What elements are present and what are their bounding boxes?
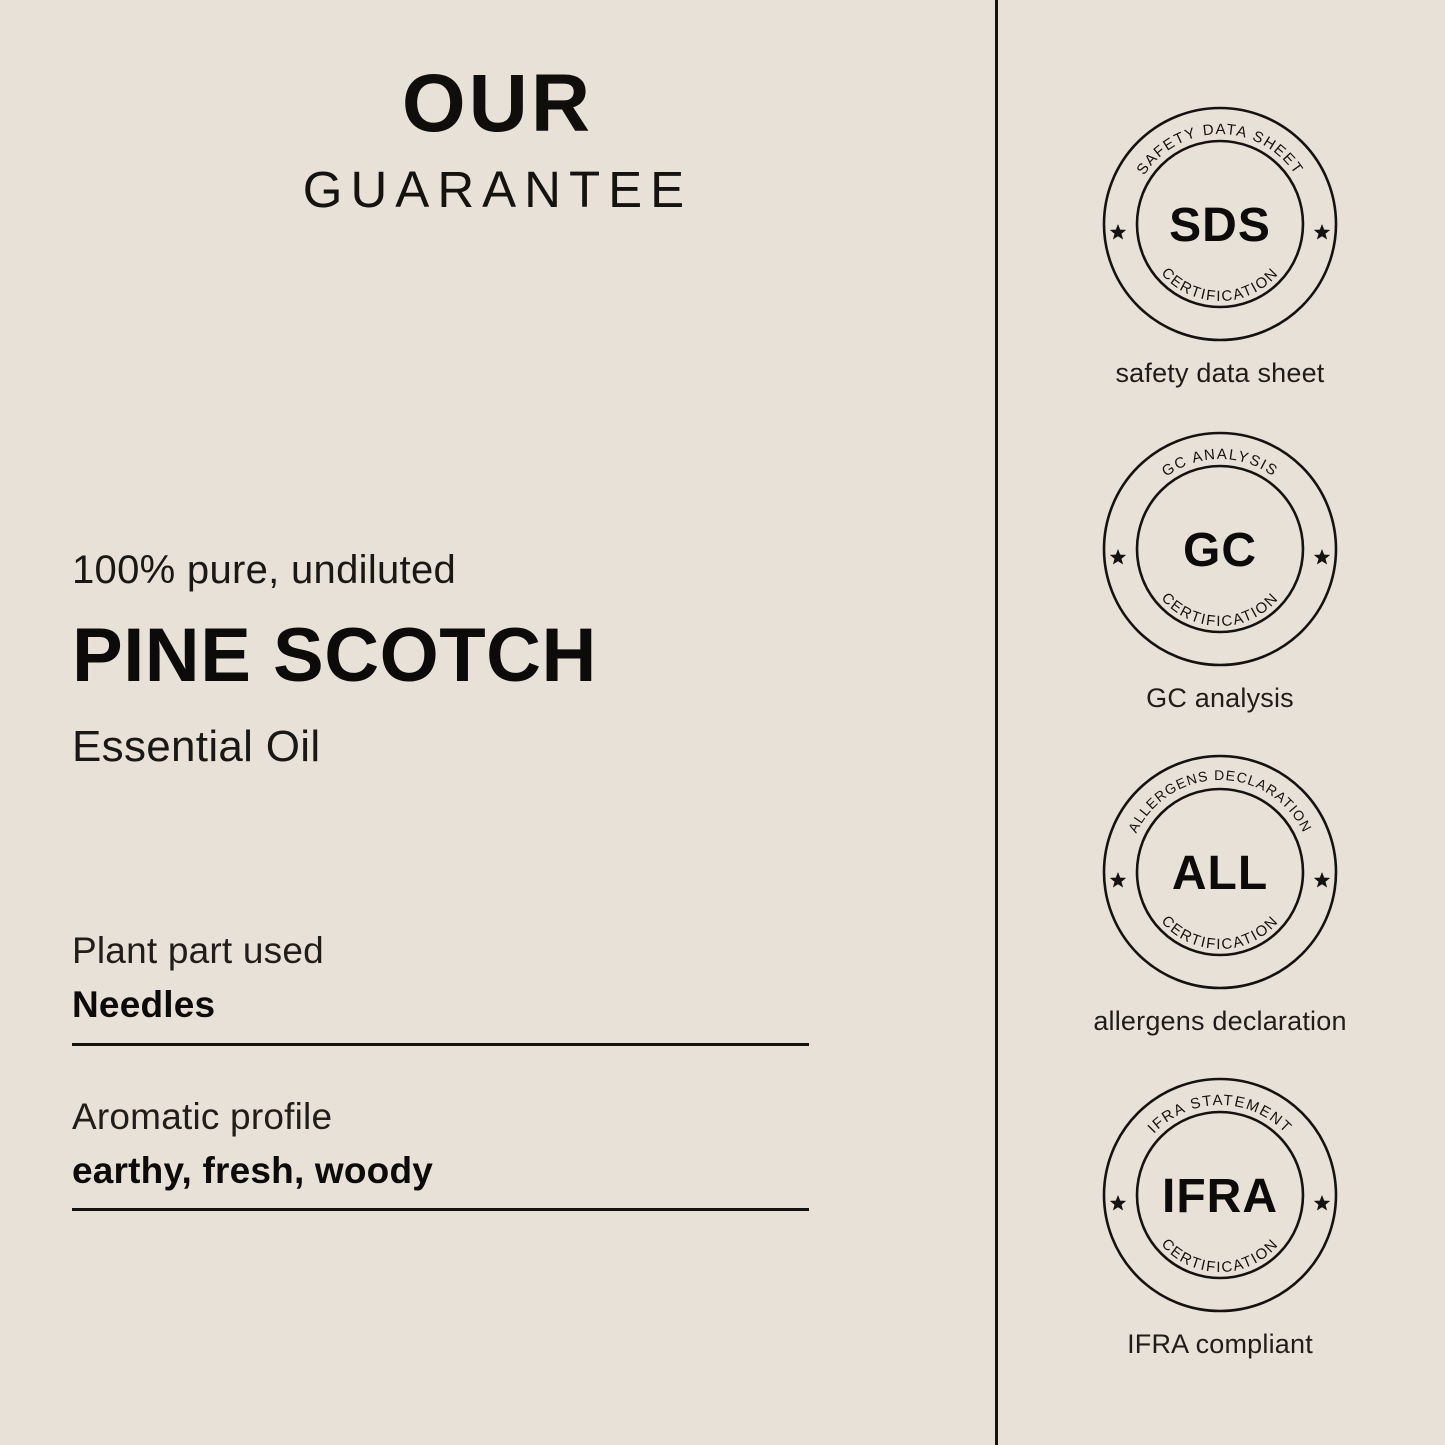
star-icon-right xyxy=(1314,872,1330,888)
seal-icon: IFRA STATEMENT CERTIFICATION IFRA xyxy=(1098,1073,1342,1317)
header-line-guarantee: GUARANTEE xyxy=(0,152,995,229)
seal-abbreviation: IFRA xyxy=(1162,1170,1278,1223)
seal-abbreviation: GC xyxy=(1183,524,1257,577)
seal-abbreviation: ALL xyxy=(1172,847,1268,900)
seal-top-text: SAFETY DATA SHEET xyxy=(1133,121,1306,178)
spec-divider xyxy=(72,1043,809,1046)
seal-bottom-text: CERTIFICATION xyxy=(1158,589,1282,630)
seal-icon: GC ANALYSIS CERTIFICATION GC xyxy=(1098,427,1342,671)
star-icon-left xyxy=(1110,549,1126,565)
certification-badge-gc: GC ANALYSIS CERTIFICATION GC GC analysis xyxy=(995,427,1445,714)
badge-caption: safety data sheet xyxy=(995,358,1445,389)
certification-badge-ifra: IFRA STATEMENT CERTIFICATION IFRA IFRA c… xyxy=(995,1073,1445,1360)
seal-bottom-text: CERTIFICATION xyxy=(1158,1235,1282,1276)
star-icon-left xyxy=(1110,224,1126,240)
star-icon-left xyxy=(1110,1195,1126,1211)
label-page: OUR GUARANTEE 100% pure, undiluted PINE … xyxy=(0,0,1445,1445)
product-type: Essential Oil xyxy=(72,721,892,774)
spec-row: Aromatic profile earthy, fresh, woody xyxy=(72,1094,809,1212)
star-icon-right xyxy=(1314,224,1330,240)
seal-bottom-text: CERTIFICATION xyxy=(1158,264,1282,305)
seal-top-text: GC ANALYSIS xyxy=(1159,446,1281,480)
product-purity-text: 100% pure, undiluted xyxy=(72,546,892,594)
spec-label: Plant part used xyxy=(72,928,809,974)
guarantee-header: OUR GUARANTEE xyxy=(0,62,995,228)
badge-caption: IFRA compliant xyxy=(995,1329,1445,1360)
spec-value: earthy, fresh, woody xyxy=(72,1148,809,1194)
star-icon-right xyxy=(1314,1195,1330,1211)
spec-value: Needles xyxy=(72,982,809,1028)
certification-badge-allergens: ALLERGENS DECLARATION CERTIFICATION ALL … xyxy=(995,750,1445,1037)
seal-bottom-text: CERTIFICATION xyxy=(1158,912,1282,953)
seal-icon: SAFETY DATA SHEET CERTIFICATION SDS xyxy=(1098,102,1342,346)
badge-caption: allergens declaration xyxy=(995,1006,1445,1037)
star-icon-right xyxy=(1314,549,1330,565)
seal-abbreviation: SDS xyxy=(1169,199,1271,252)
spec-divider xyxy=(72,1208,809,1211)
left-column: OUR GUARANTEE 100% pure, undiluted PINE … xyxy=(0,0,995,1445)
badge-caption: GC analysis xyxy=(995,683,1445,714)
product-name: PINE SCOTCH xyxy=(72,612,892,699)
spec-list: Plant part used Needles Aromatic profile… xyxy=(72,928,809,1211)
certification-badge-sds: SAFETY DATA SHEET CERTIFICATION SDS safe… xyxy=(995,102,1445,389)
header-line-our: OUR xyxy=(0,62,995,146)
spec-label: Aromatic profile xyxy=(72,1094,809,1140)
seal-icon: ALLERGENS DECLARATION CERTIFICATION ALL xyxy=(1098,750,1342,994)
spec-row: Plant part used Needles xyxy=(72,928,809,1046)
product-block: 100% pure, undiluted PINE SCOTCH Essenti… xyxy=(72,546,892,774)
star-icon-left xyxy=(1110,872,1126,888)
certification-column: SAFETY DATA SHEET CERTIFICATION SDS safe… xyxy=(995,0,1445,1445)
